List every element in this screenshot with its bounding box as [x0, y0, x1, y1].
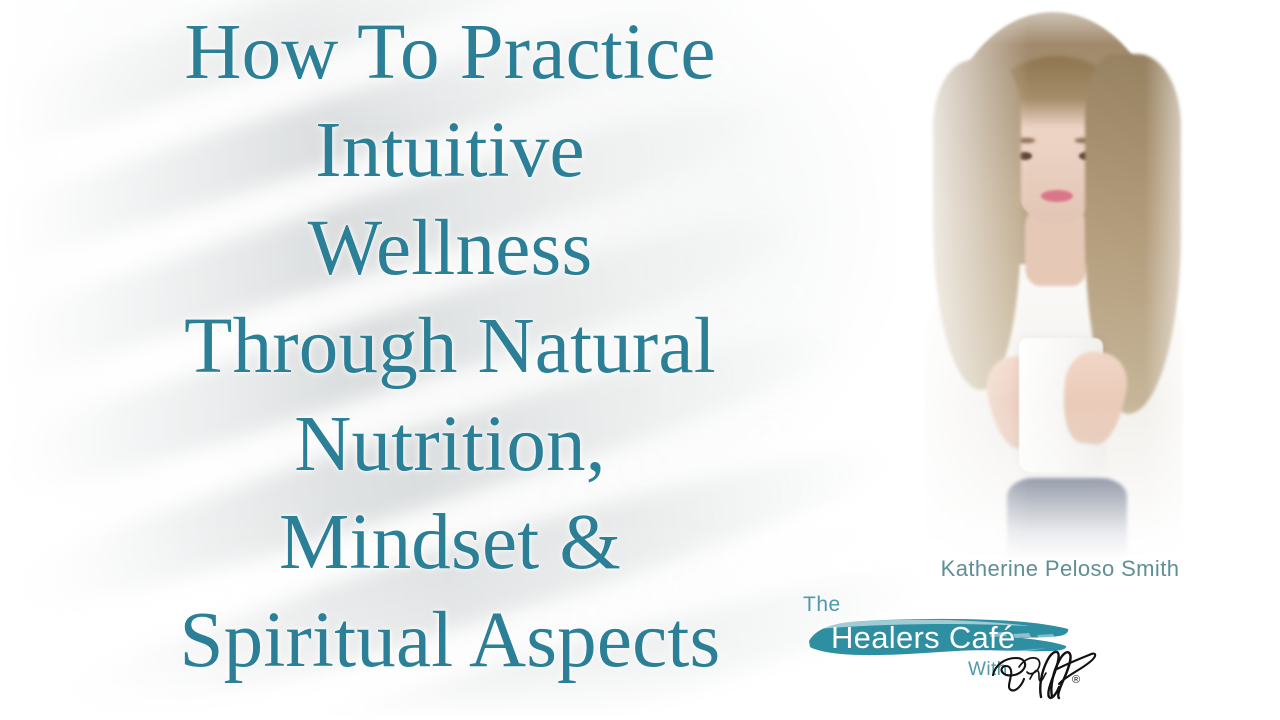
healers-cafe-logo: The Healers Café With ® — [793, 593, 1093, 711]
title-line-1: How To Practice — [0, 4, 900, 102]
registered-mark: ® — [1072, 674, 1080, 686]
title-line-3: Wellness — [0, 200, 900, 298]
title-line-7: Spiritual Aspects — [0, 592, 900, 690]
episode-title: How To Practice Intuitive Wellness Throu… — [0, 0, 900, 690]
logo-the-text: The — [803, 593, 841, 617]
title-line-6: Mindset & — [0, 494, 900, 592]
photo-edge-fade — [895, 0, 1215, 560]
signature-icon — [989, 645, 1099, 703]
logo-name-text: Healers Café — [831, 620, 1016, 656]
video-thumbnail: How To Practice Intuitive Wellness Throu… — [0, 0, 1280, 720]
title-line-4: Through Natural — [0, 298, 900, 396]
title-line-2: Intuitive — [0, 102, 900, 200]
guest-name: Katherine Peloso Smith — [895, 556, 1225, 582]
title-line-5: Nutrition, — [0, 396, 900, 494]
guest-photo — [895, 0, 1215, 560]
